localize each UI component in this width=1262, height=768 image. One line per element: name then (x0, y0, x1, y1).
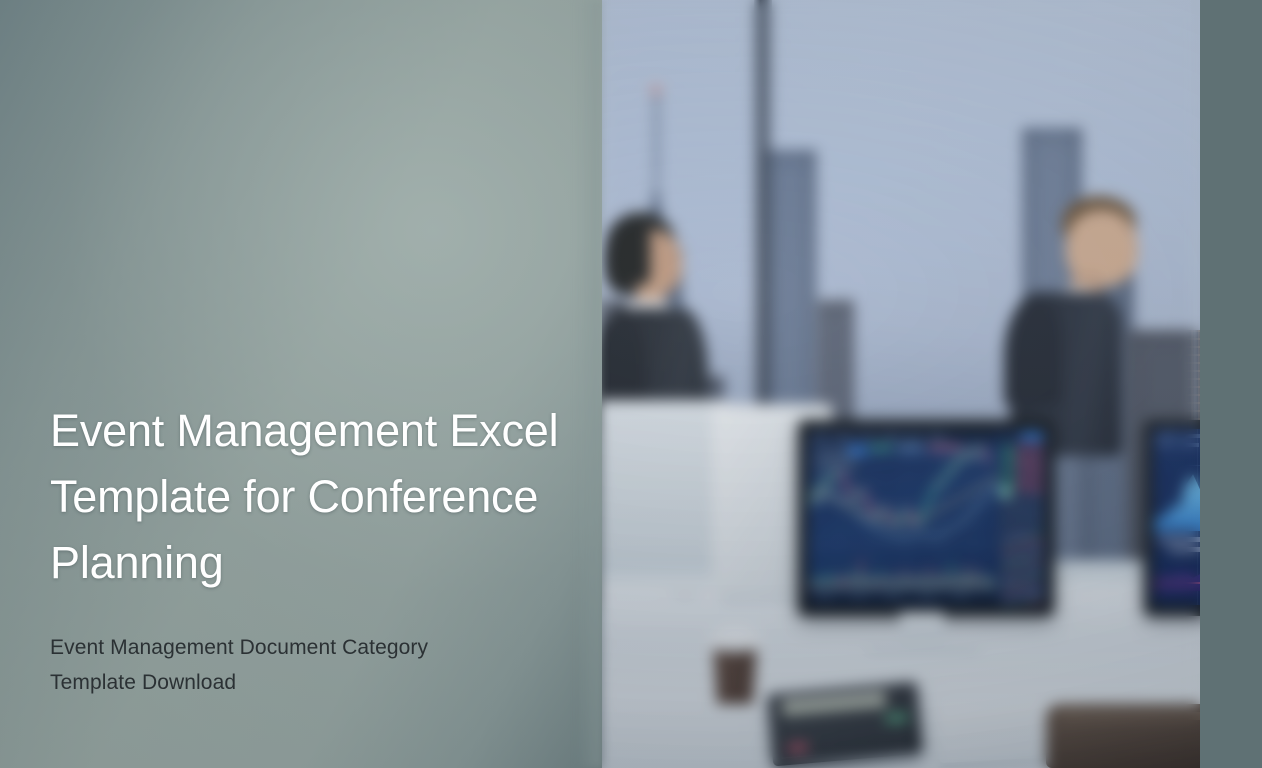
order-book-row (1017, 539, 1028, 542)
order-book-row (1031, 594, 1042, 597)
price-band (1158, 537, 1200, 542)
order-book-row (1003, 569, 1014, 572)
order-book-row (1017, 509, 1028, 512)
order-book-row (1031, 509, 1042, 512)
order-book-row (1003, 589, 1014, 592)
order-book-row (1003, 599, 1014, 602)
volume-bar (860, 559, 862, 589)
volume-bar (962, 570, 964, 590)
order-book-row (1003, 564, 1014, 567)
order-book-row (1017, 494, 1028, 497)
order-book-row (1017, 459, 1028, 462)
order-book-row (1031, 484, 1042, 487)
order-book-row (1003, 554, 1014, 557)
order-book-highlight (1000, 488, 1010, 497)
volume-bar (847, 577, 849, 589)
toolbar-item[interactable] (880, 435, 902, 439)
order-book-row (1017, 529, 1028, 532)
order-book-row (1017, 454, 1028, 457)
order-book-row (1031, 574, 1042, 577)
order-book-row (1017, 589, 1028, 592)
order-book-row (1017, 469, 1028, 472)
volume-bar (977, 568, 979, 589)
order-book-row (1017, 504, 1028, 507)
volume-bar (990, 577, 992, 590)
area-chart-lower (1153, 552, 1200, 591)
order-book-row (1031, 494, 1042, 497)
order-book-row (1017, 574, 1028, 577)
volume-bar (928, 567, 930, 590)
volume-bar (850, 569, 852, 589)
secondary-toolbar-item[interactable] (1157, 443, 1173, 447)
order-book-row (1017, 464, 1028, 467)
volume-bar (906, 579, 908, 589)
volume-bar (993, 580, 995, 590)
secondary-toolbar-item[interactable] (1179, 443, 1199, 447)
order-book-row (1031, 514, 1042, 517)
volume-bar (835, 579, 837, 589)
volume-bar (853, 580, 855, 590)
chair-highlight (1060, 712, 1200, 720)
order-book-row (1017, 479, 1028, 482)
order-book-row (1031, 604, 1042, 605)
order-book-row (1031, 504, 1042, 507)
volume-bar (909, 582, 911, 590)
volume-bar (943, 577, 945, 589)
order-book-row (1003, 519, 1014, 522)
volume-bar (857, 574, 859, 590)
order-book-row (1017, 514, 1028, 517)
volume-bar (925, 574, 927, 590)
volume-bar (922, 581, 924, 590)
order-book-row (1031, 444, 1042, 447)
order-book-row (1017, 474, 1028, 477)
order-book-row (1017, 564, 1028, 567)
volume-bar (900, 575, 902, 590)
volume-bar (919, 578, 921, 589)
area-chart-upper (1153, 471, 1200, 531)
order-book-row (1003, 469, 1014, 472)
order-book-row (1017, 519, 1028, 522)
subtitle-action: Template Download (50, 665, 562, 700)
order-book-row (1003, 594, 1014, 597)
secondary-toolbar-item[interactable] (1157, 434, 1179, 438)
order-book-row (1031, 569, 1042, 572)
volume-bar (934, 583, 936, 590)
order-book-row (1003, 504, 1014, 507)
volume-bar (826, 576, 828, 589)
businessman-right (1010, 196, 1160, 456)
volume-bar (912, 576, 914, 589)
order-book-row (1017, 594, 1028, 597)
active-tab-highlight[interactable] (848, 446, 867, 455)
hero-banner: Event Management Excel Template for Conf… (0, 0, 1262, 768)
volume-bar (897, 583, 899, 589)
volume-bar (965, 566, 967, 590)
tower-mast (655, 92, 658, 180)
area-chart-line (1153, 582, 1200, 584)
order-book-row (1017, 524, 1028, 527)
order-book-row (1031, 564, 1042, 567)
volume-bar (946, 580, 948, 589)
volume-bar (937, 575, 939, 589)
order-book-row (1003, 484, 1014, 487)
toolbar-item[interactable] (812, 435, 828, 439)
axis-tick (852, 595, 866, 598)
volume-bar (940, 571, 942, 589)
volume-bar (888, 578, 890, 590)
order-book-row (1031, 474, 1042, 477)
axis-tick (886, 595, 900, 598)
order-book-row (1003, 604, 1014, 605)
secondary-screen (1153, 429, 1200, 605)
order-book-row (1003, 579, 1014, 582)
toolbar-item[interactable] (834, 435, 854, 439)
volume-bar (816, 584, 818, 590)
chart-gridline (1153, 465, 1200, 466)
volume-bar (953, 573, 955, 589)
order-book-row (1003, 454, 1014, 457)
volume-bar (841, 575, 843, 589)
volume-bar (974, 572, 976, 589)
volume-bar (838, 581, 840, 589)
order-book-row (1031, 579, 1042, 582)
order-book-row (1003, 544, 1014, 547)
order-book-row (1017, 444, 1028, 447)
order-book-row (1017, 559, 1028, 562)
volume-bar (875, 582, 877, 589)
tower-beacon-light (654, 88, 658, 92)
page-title: Event Management Excel Template for Conf… (50, 398, 562, 596)
mouse (668, 584, 702, 598)
order-book-row (1031, 589, 1042, 592)
volume-bar (894, 580, 896, 589)
calculator-key-red (788, 742, 809, 753)
order-book-row (1017, 534, 1028, 537)
order-book-row (1003, 514, 1014, 517)
order-book-row (1003, 549, 1014, 552)
panel-soft-edge (576, 0, 602, 768)
order-book-row (1017, 604, 1028, 605)
monitor-stand-base (866, 640, 980, 652)
volume-bar (931, 580, 933, 590)
coffee-cup-lid-top (714, 629, 756, 640)
volume-bar (971, 579, 973, 589)
order-book-row (1031, 584, 1042, 587)
calculator-display (782, 691, 887, 716)
order-book-row (1017, 579, 1028, 582)
order-book-row (1031, 449, 1042, 452)
order-book-button[interactable] (1021, 433, 1043, 440)
volume-bar (891, 574, 893, 589)
toolbar-item[interactable] (860, 435, 874, 439)
trading-monitor (798, 420, 1054, 616)
secondary-monitor (1144, 420, 1200, 616)
chart-legend (870, 446, 962, 450)
order-book-panel[interactable] (999, 430, 1045, 605)
order-book-row (1031, 599, 1042, 602)
volume-bar (844, 583, 846, 589)
order-book-row (1003, 539, 1014, 542)
order-book-row (1031, 454, 1042, 457)
order-book-row (1031, 544, 1042, 547)
order-book-row (1003, 509, 1014, 512)
hair-back (604, 220, 650, 294)
order-book-row (1031, 479, 1042, 482)
volume-bar (987, 574, 989, 589)
order-book-row (1017, 499, 1028, 502)
calculator (767, 682, 923, 767)
order-book-row (1031, 499, 1042, 502)
volume-bar (878, 576, 880, 590)
volume-bar (813, 578, 815, 589)
order-book-row (1003, 444, 1014, 447)
order-book-row (1017, 599, 1028, 602)
order-book-row (1003, 449, 1014, 452)
order-book-row (1031, 469, 1042, 472)
volume-bar (869, 573, 871, 590)
order-book-row (1003, 524, 1014, 527)
volume-bar (903, 569, 905, 590)
secondary-toolbar-item[interactable] (1185, 434, 1200, 438)
coffee-cup (706, 620, 764, 706)
volume-bar (819, 574, 821, 589)
volume-bar (884, 581, 886, 589)
order-book-row (1017, 584, 1028, 587)
order-book-row (1003, 534, 1014, 537)
volume-bar (822, 580, 824, 589)
order-book-row (1017, 544, 1028, 547)
volume-bar (829, 583, 831, 590)
order-book-row (1003, 559, 1014, 562)
order-book-row (1017, 569, 1028, 572)
subtitle-category: Event Management Document Category (50, 630, 562, 665)
order-book-row (1017, 449, 1028, 452)
order-book-row (1003, 479, 1014, 482)
order-book-row (1031, 529, 1042, 532)
toolbar-item[interactable] (928, 435, 946, 439)
order-book-row (1003, 574, 1014, 577)
volume-bar (984, 581, 986, 590)
order-book-row (1031, 559, 1042, 562)
order-book-row (1031, 459, 1042, 462)
volume-bar (915, 572, 917, 589)
shoulder (1004, 296, 1062, 406)
order-book-row (1003, 459, 1014, 462)
order-book-row (1031, 554, 1042, 557)
volume-bar (959, 581, 961, 589)
order-book-row (1031, 464, 1042, 467)
toolbar-item[interactable] (908, 435, 920, 439)
axis-tick (920, 595, 934, 598)
order-book-row (1003, 474, 1014, 477)
order-book-row (1017, 489, 1028, 492)
volume-bar (810, 582, 812, 589)
hero-content: Event Management Excel Template for Conf… (50, 398, 562, 700)
calculator-key-green (885, 713, 908, 724)
volume-bar (863, 577, 865, 590)
trading-screen (808, 430, 1045, 605)
order-book-row (1017, 554, 1028, 557)
volume-bar (881, 570, 883, 589)
order-book-row (1017, 549, 1028, 552)
price-band (1169, 547, 1200, 552)
order-book-row (1031, 489, 1042, 492)
order-book-row (1031, 539, 1042, 542)
volume-bar (968, 576, 970, 589)
volume-bar (956, 579, 958, 590)
volume-bar (832, 572, 834, 590)
volume-bar (981, 578, 983, 590)
volume-bar (950, 562, 952, 590)
order-book-row (1003, 499, 1014, 502)
axis-tick (954, 595, 968, 598)
order-book-row (1003, 529, 1014, 532)
order-book-row (1017, 484, 1028, 487)
order-book-row (1031, 519, 1042, 522)
volume-bar (872, 579, 874, 590)
order-book-row (1031, 534, 1042, 537)
order-book-row (1003, 464, 1014, 467)
axis-tick (818, 595, 832, 598)
order-book-row (1031, 524, 1042, 527)
order-book-row (1003, 584, 1014, 587)
order-book-row (1031, 549, 1042, 552)
office-chair (1046, 704, 1200, 768)
volume-bar (866, 581, 868, 590)
